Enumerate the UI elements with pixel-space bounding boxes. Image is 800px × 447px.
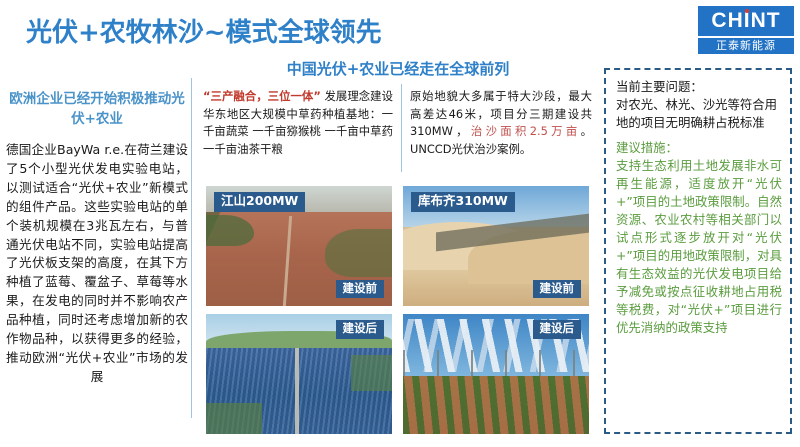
photo-stage-label: 建设前 bbox=[533, 280, 582, 299]
left-column-heading: 欧洲企业已经开始积极推动光伏+农业 bbox=[6, 90, 188, 129]
photo-vegetation-patch bbox=[206, 403, 262, 434]
left-column-body: 德国企业BayWa r.e.在荷兰建设了5个小型光伏发电实验电站，以测试适合“光… bbox=[6, 141, 188, 387]
advice-title: 建议措施： bbox=[616, 139, 782, 157]
logo-wordmark: CHINT bbox=[698, 6, 794, 36]
brand-logo: CHINT 正泰新能源 bbox=[698, 6, 794, 54]
photo-stage-label: 建设后 bbox=[336, 320, 385, 339]
middle-text-right-highlight: 治沙面积2.5万亩 bbox=[471, 124, 581, 138]
photo-stage-label: 建设前 bbox=[336, 280, 385, 299]
photo-project-label: 库布齐310MW bbox=[411, 192, 515, 212]
column-divider-left bbox=[191, 78, 192, 418]
photo-jiangshan-after[interactable]: 建设后 bbox=[206, 314, 392, 434]
problem-title: 当前主要问题： bbox=[616, 78, 782, 96]
photo-road bbox=[295, 348, 299, 434]
problem-body: 对农光、林光、沙光等符合用地的项目无明确耕占税标准 bbox=[616, 96, 782, 132]
middle-text-left: “三产融合，三位一体” 发展理念建设华东地区大规模中草药种植基地：一千亩蔬菜 一… bbox=[203, 88, 393, 159]
advice-body: 支持生态利用土地发展非水可再生能源，适度放开“光伏+”项目的土地政策限制。自然资… bbox=[616, 157, 782, 337]
policy-panel: 当前主要问题： 对农光、林光、沙光等符合用地的项目无明确耕占税标准 建议措施： … bbox=[604, 68, 792, 434]
photo-vegetation-patch bbox=[325, 229, 392, 277]
photo-stage-label: 建设后 bbox=[533, 320, 582, 339]
left-column: 欧洲企业已经开始积极推动光伏+农业 德国企业BayWa r.e.在荷兰建设了5个… bbox=[6, 90, 188, 387]
middle-text-right: 原始地貌大多属于特大沙段，最大高差达46米，项目分三期建设共310MW，治沙面积… bbox=[410, 88, 592, 159]
page-title: 光伏+农牧林沙~模式全球领先 bbox=[26, 12, 382, 49]
photo-project-label: 江山200MW bbox=[214, 192, 305, 212]
logo-accent-dot bbox=[745, 9, 749, 13]
middle-column-heading: 中国光伏+农业已经走在全球前列 bbox=[200, 58, 596, 79]
photo-kubuqi-before[interactable]: 库布齐310MW 建设前 bbox=[403, 186, 589, 306]
column-divider-middle bbox=[401, 84, 402, 172]
photo-crop-rows bbox=[403, 376, 589, 434]
middle-text-left-highlight: “三产融合，三位一体” bbox=[203, 89, 321, 103]
photo-vegetation-patch bbox=[351, 355, 392, 391]
logo-subtitle: 正泰新能源 bbox=[698, 38, 794, 54]
photo-jiangshan-before[interactable]: 江山200MW 建设前 bbox=[206, 186, 392, 306]
photo-kubuqi-after[interactable]: 建设后 bbox=[403, 314, 589, 434]
